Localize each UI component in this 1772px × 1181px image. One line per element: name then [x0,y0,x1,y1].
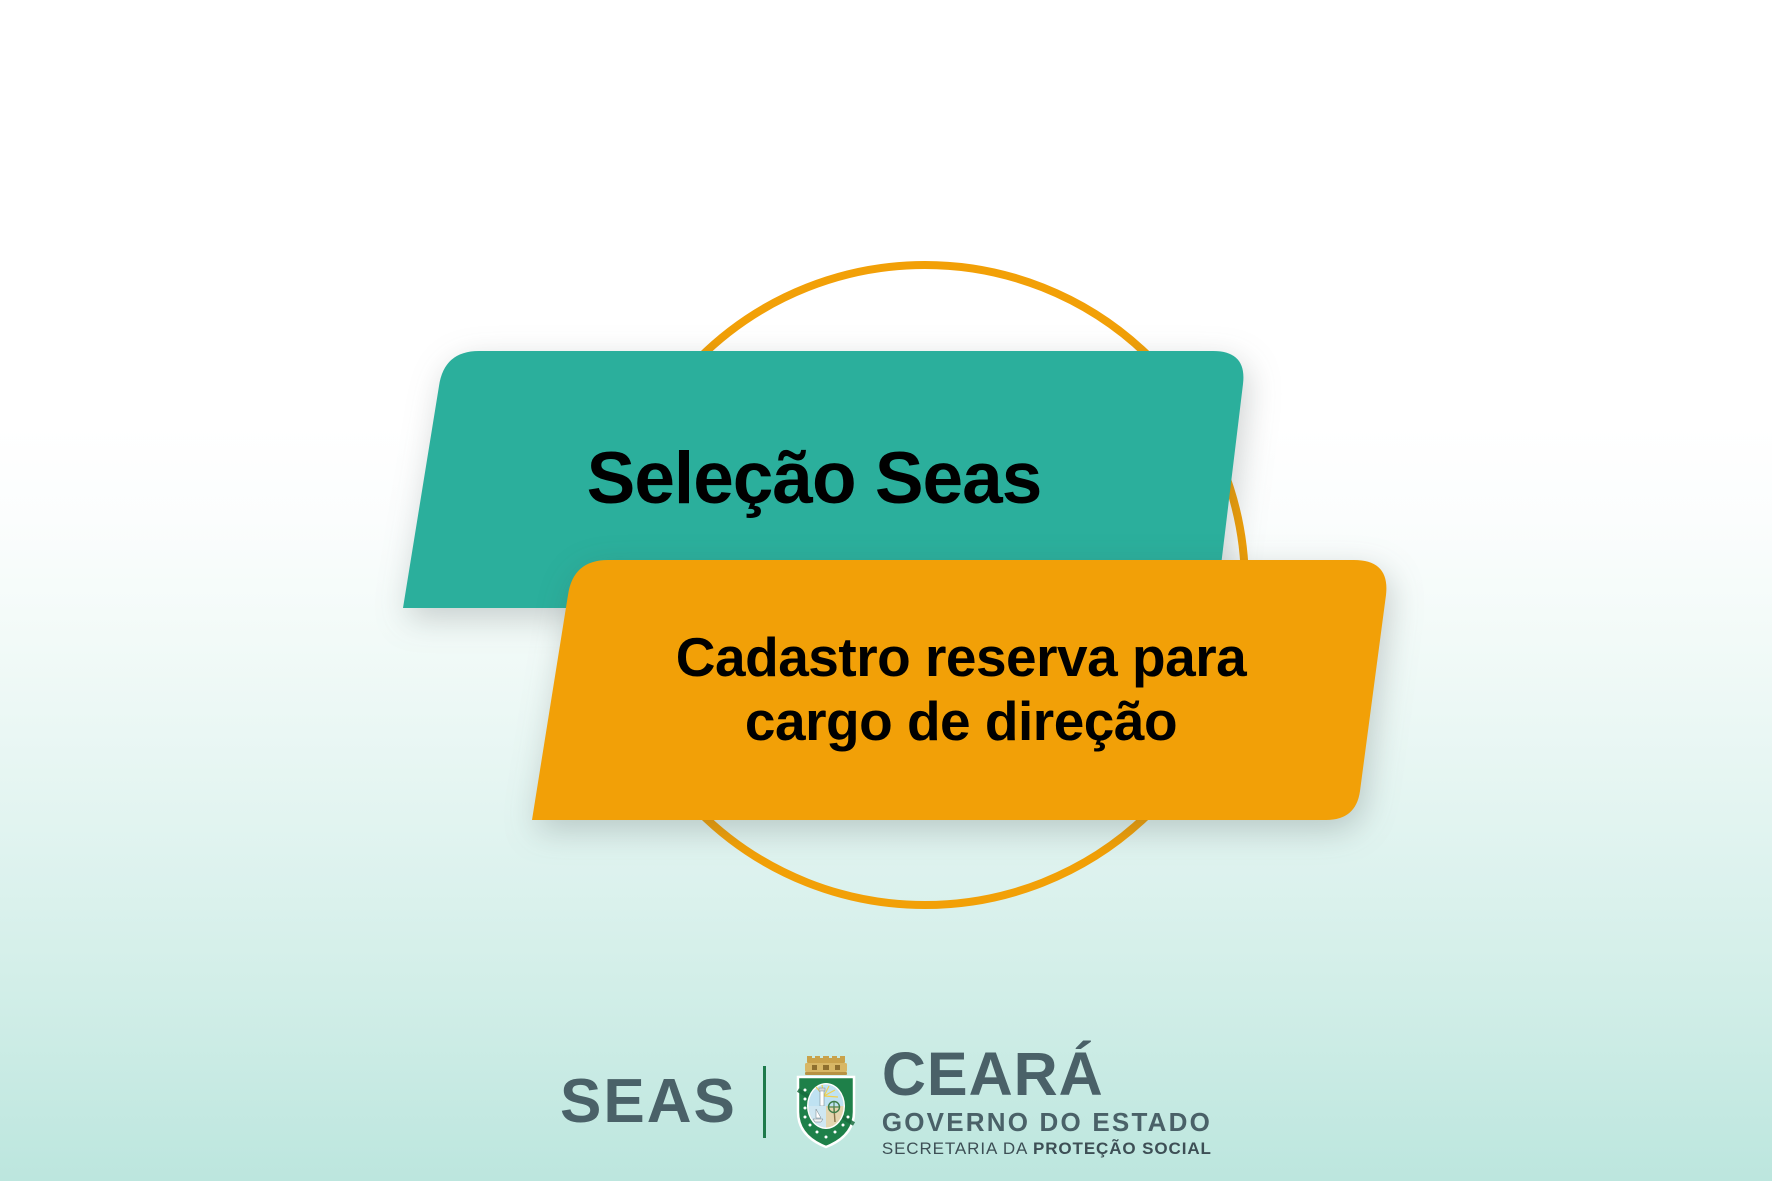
ceara-wordmark: CEARÁ [882,1046,1212,1103]
orange-banner [528,559,1394,821]
secretaria-strong: PROTEÇÃO SOCIAL [1033,1139,1212,1158]
orange-banner-shape [528,559,1394,821]
footer-logo-lockup: SEAS [0,1044,1772,1159]
logo-divider [763,1066,766,1138]
ceara-text-block: CEARÁ GOVERNO DO ESTADO SECRETARIA DA PR… [882,1046,1212,1156]
governo-do-estado-label: GOVERNO DO ESTADO [882,1109,1212,1135]
seas-wordmark: SEAS [560,1071,763,1133]
secretaria-prefix: SECRETARIA DA [882,1139,1033,1158]
secretaria-label: SECRETARIA DA PROTEÇÃO SOCIAL [882,1140,1212,1157]
coat-of-arms-icon [790,1054,862,1150]
